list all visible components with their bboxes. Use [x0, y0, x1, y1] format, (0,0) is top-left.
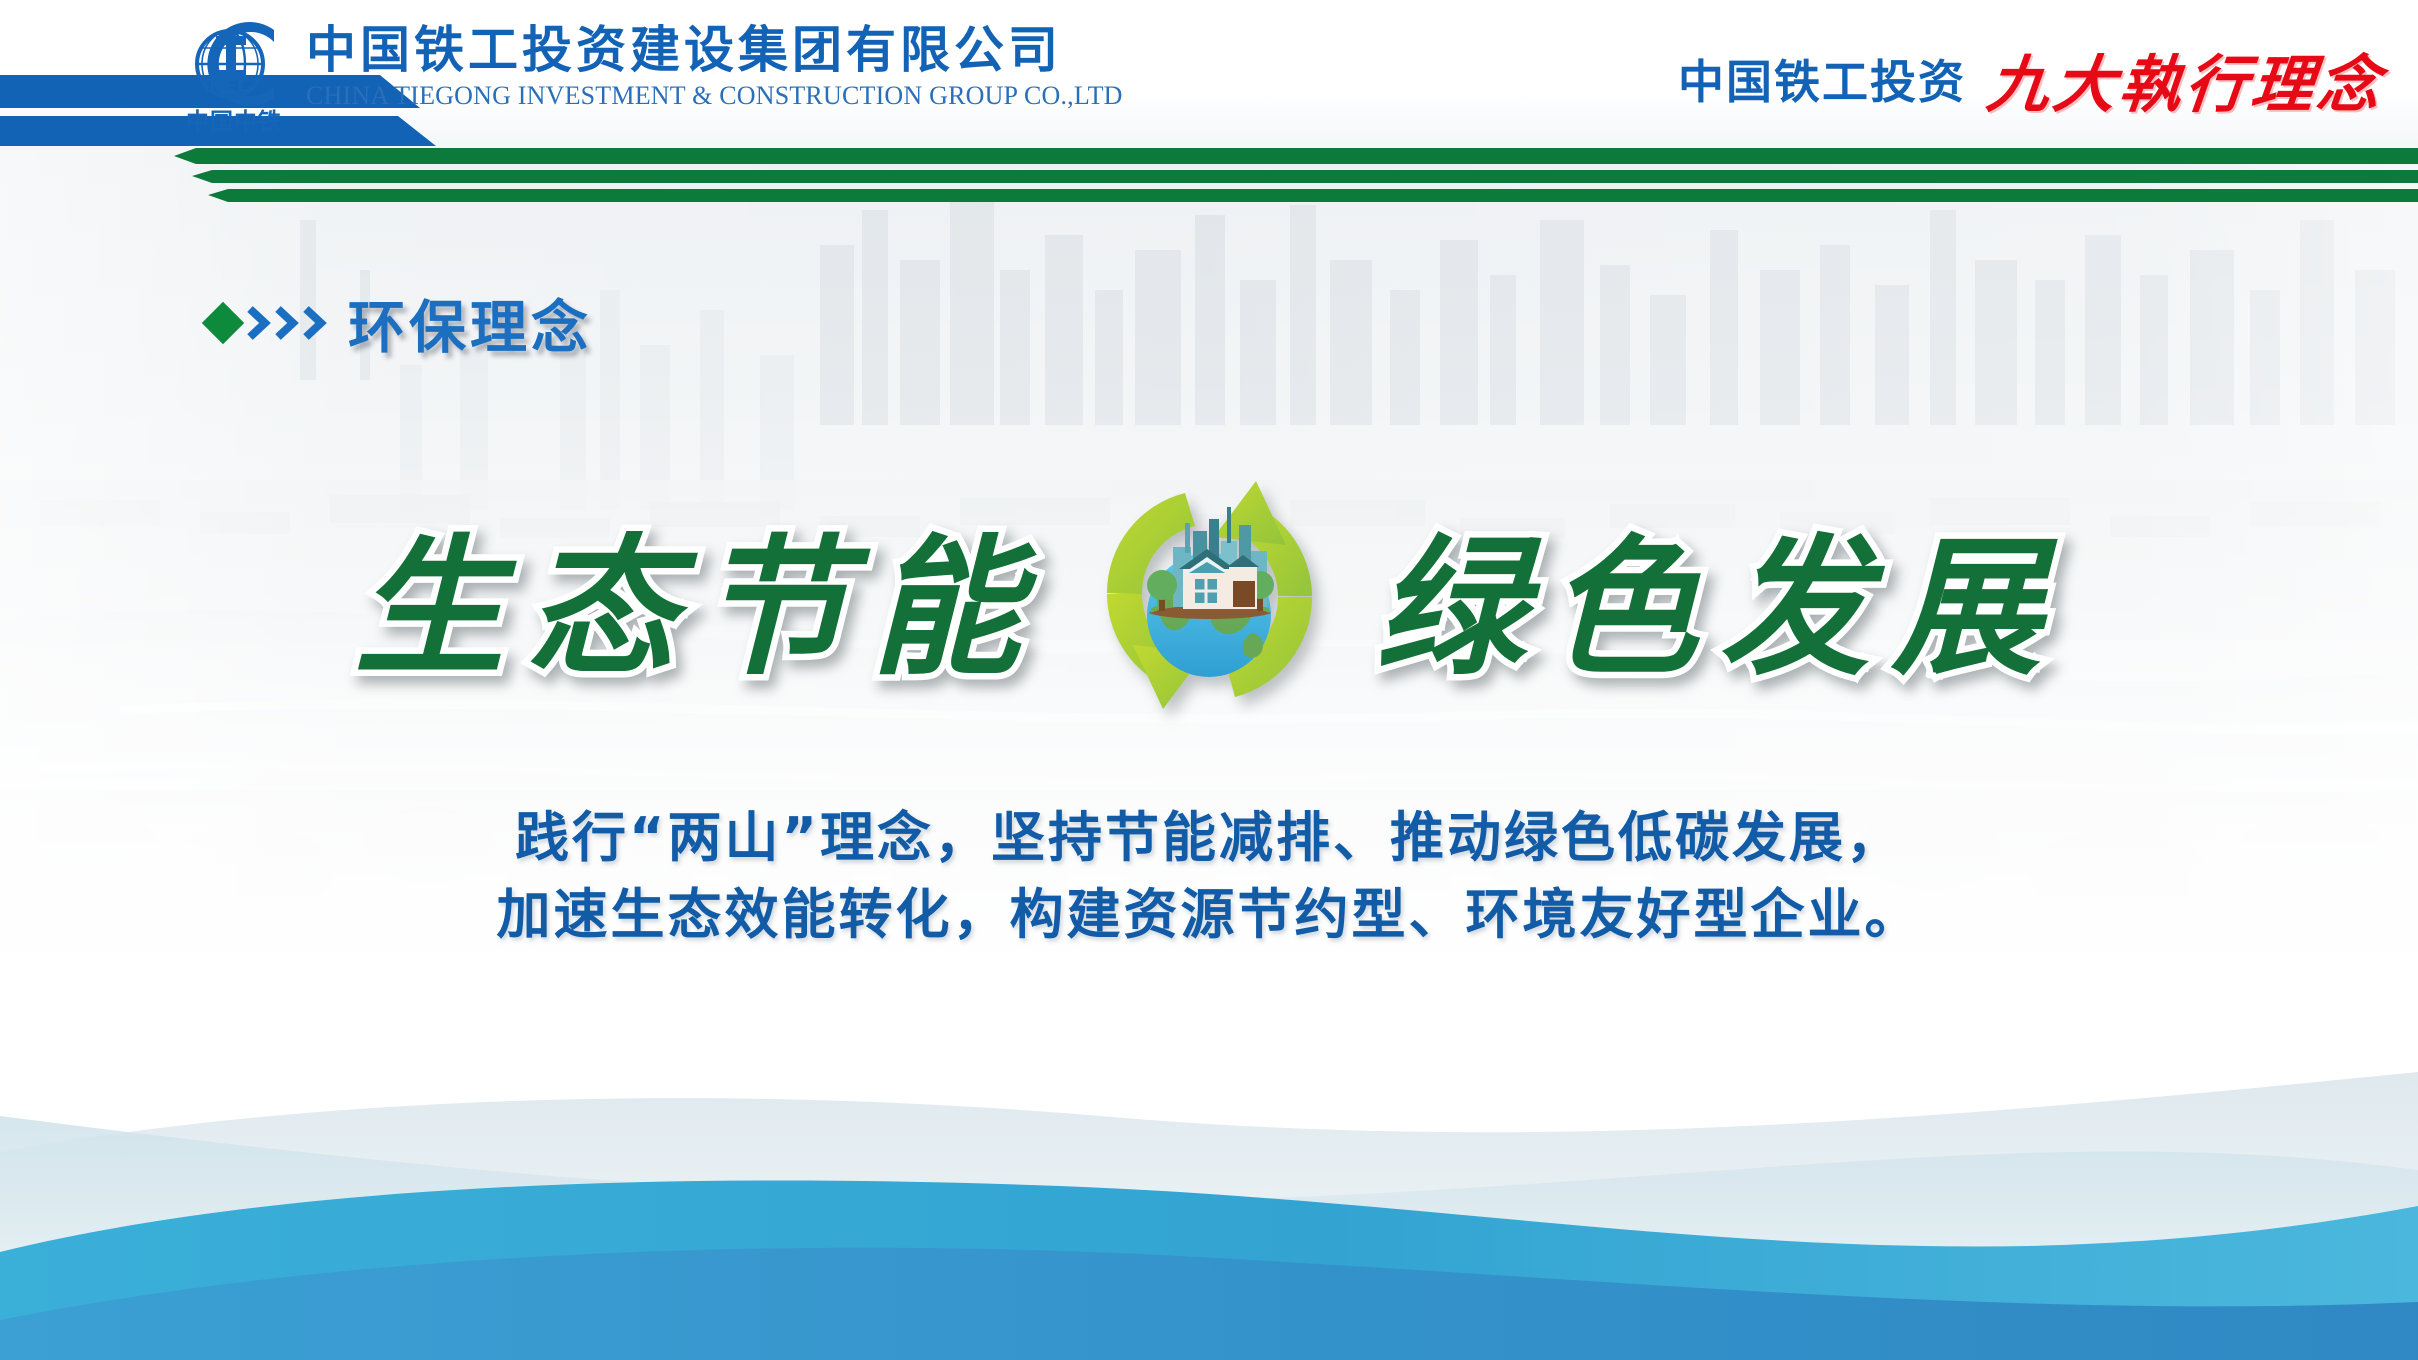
company-logo-block: REC 中国中铁 中国铁工投资建设集团有限公司 CHINA TIEGONG IN… — [178, 18, 1123, 134]
diamond-icon — [202, 302, 244, 344]
description-block: 践行“两山”理念，坚持节能减排、推动绿色低碳发展， 加速生态效能转化，构建资源节… — [0, 800, 2418, 953]
chevron-right-icon — [302, 305, 328, 341]
svg-text:REC: REC — [209, 75, 251, 97]
description-line-1: 践行“两山”理念，坚持节能减排、推动绿色低碳发展， — [0, 800, 2418, 877]
recycle-earth-emblem-icon — [1067, 463, 1352, 728]
main-slogan-row: 生态节能 — [0, 470, 2418, 720]
diamond-chevrons-icon — [208, 305, 328, 341]
bottom-wave-decoration — [0, 1020, 2418, 1360]
crec-globe-logo-icon: REC 中国中铁 — [178, 18, 290, 134]
section-title-text: 环保理念 — [348, 282, 592, 364]
chevron-right-icon — [246, 305, 272, 341]
header-nine-principles-title: 九大執行理念 — [1983, 34, 2388, 124]
company-name-en: CHINA TIEGONG INVESTMENT & CONSTRUCTION … — [306, 81, 1123, 111]
header-right-brand: 中国铁工投资 九大執行理念 — [1678, 34, 2384, 124]
header-brand-cn: 中国铁工投资 — [1678, 46, 1966, 112]
company-name-cn: 中国铁工投资建设集团有限公司 — [306, 24, 1123, 77]
description-line-2: 加速生态效能转化，构建资源节约型、环境友好型企业。 — [0, 877, 2418, 954]
logo-caption-cn: 中国中铁 — [178, 111, 290, 134]
slogan-right-text: 绿色发展 — [1376, 487, 2064, 704]
slide-canvas: REC 中国中铁 中国铁工投资建设集团有限公司 CHINA TIEGONG IN… — [0, 0, 2418, 1360]
chevron-right-icon — [274, 305, 300, 341]
company-name-group: 中国铁工投资建设集团有限公司 CHINA TIEGONG INVESTMENT … — [306, 18, 1123, 111]
page-header: REC 中国中铁 中国铁工投资建设集团有限公司 CHINA TIEGONG IN… — [0, 0, 2418, 200]
slogan-left-text: 生态节能 — [354, 487, 1042, 704]
section-title-group: 环保理念 — [208, 282, 592, 364]
